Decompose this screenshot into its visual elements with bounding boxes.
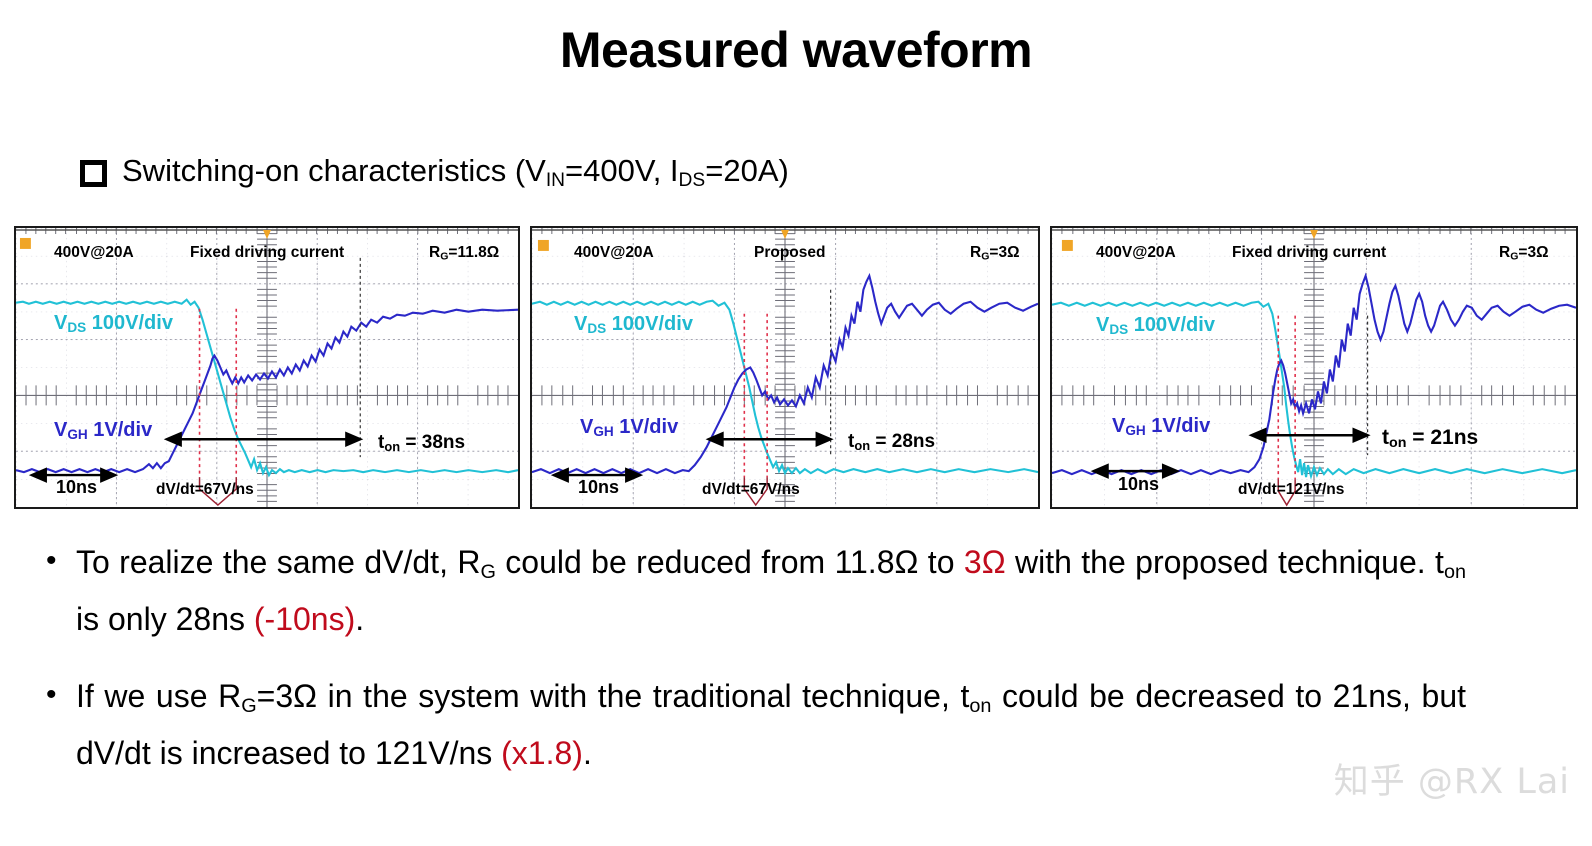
channel-marker-icon — [538, 240, 549, 251]
bullet-2-highlight-factor: (x1.8) — [501, 735, 583, 771]
bullet-marker: • — [46, 668, 76, 721]
scope-2-ton: ton = 28ns — [848, 431, 935, 453]
scope-panel-3: 400V@20A Fixed driving current RG=3Ω VDS… — [1050, 226, 1578, 509]
scope-3-graph — [1052, 228, 1576, 507]
channel-marker-icon — [20, 238, 31, 249]
scope-3-rg: RG=3Ω — [1499, 244, 1549, 262]
subtitle-mid: =400V, I — [565, 153, 679, 188]
page-title: Measured waveform — [0, 24, 1592, 77]
bullet-marker: • — [46, 534, 76, 587]
slide-root: Measured waveform Switching-on character… — [0, 0, 1592, 846]
bullet-2-text: If we use RG=3Ω in the system with the t… — [76, 668, 1466, 782]
scope-2-timebase: 10ns — [578, 477, 619, 498]
bullet-1-highlight-delta: (-10ns) — [254, 601, 355, 637]
bullet-list: • To realize the same dV/dt, RG could be… — [46, 534, 1466, 802]
scope-1-technique: Fixed driving current — [190, 244, 344, 262]
subtitle-prefix: Switching-on characteristics (V — [122, 153, 546, 188]
scope-2-condition: 400V@20A — [574, 244, 654, 262]
subtitle-row: Switching-on characteristics (VIN=400V, … — [80, 153, 789, 192]
subtitle-sub-ds: DS — [679, 170, 706, 191]
subtitle-suffix: =20A) — [705, 153, 789, 188]
scope-1-rg: RG=11.8Ω — [429, 244, 499, 262]
scope-2-vgh-label: VGH 1V/div — [580, 416, 678, 439]
scope-2-rg: RG=3Ω — [970, 244, 1020, 262]
scope-1-vgh-label: VGH 1V/div — [54, 419, 152, 442]
scope-1-condition: 400V@20A — [54, 244, 134, 262]
bullet-1-text: To realize the same dV/dt, RG could be r… — [76, 534, 1466, 648]
scope-1-ton: ton = 38ns — [378, 432, 465, 454]
bullet-1-highlight-rg: 3Ω — [964, 544, 1006, 580]
scope-3-condition: 400V@20A — [1096, 244, 1176, 262]
scope-panel-1: 400V@20A Fixed driving current RG=11.8Ω … — [14, 226, 520, 509]
bullet-item-2: • If we use RG=3Ω in the system with the… — [46, 668, 1466, 782]
scope-1-dvdt: dV/dt=67V/ns — [156, 481, 254, 499]
subtitle-sub-in: IN — [546, 170, 565, 191]
subtitle-text: Switching-on characteristics (VIN=400V, … — [122, 153, 789, 192]
scope-3-ton: ton = 21ns — [1382, 426, 1478, 451]
scope-2-technique: Proposed — [754, 244, 825, 262]
scope-3-vds-label: VDS 100V/div — [1096, 314, 1215, 337]
scope-2-dvdt: dV/dt=67V/ns — [702, 481, 800, 499]
scope-panel-2: 400V@20A Proposed RG=3Ω VDS 100V/div VGH… — [530, 226, 1040, 509]
scope-2-graph — [532, 228, 1038, 507]
channel-marker-icon — [1062, 240, 1073, 251]
scope-3-dvdt: dV/dt=121V/ns — [1238, 481, 1344, 499]
oscilloscope-panel-row: 400V@20A Fixed driving current RG=11.8Ω … — [14, 226, 1578, 509]
square-bullet-icon — [80, 160, 107, 187]
scope-1-vds-label: VDS 100V/div — [54, 312, 173, 335]
scope-3-vgh-label: VGH 1V/div — [1112, 415, 1210, 438]
bullet-item-1: • To realize the same dV/dt, RG could be… — [46, 534, 1466, 648]
watermark: 知乎 @RX Lai — [1334, 753, 1570, 804]
scope-1-graph — [16, 228, 518, 507]
scope-3-timebase: 10ns — [1118, 474, 1159, 495]
scope-2-vds-label: VDS 100V/div — [574, 313, 693, 336]
scope-1-timebase: 10ns — [56, 477, 97, 498]
scope-3-technique: Fixed driving current — [1232, 244, 1386, 262]
